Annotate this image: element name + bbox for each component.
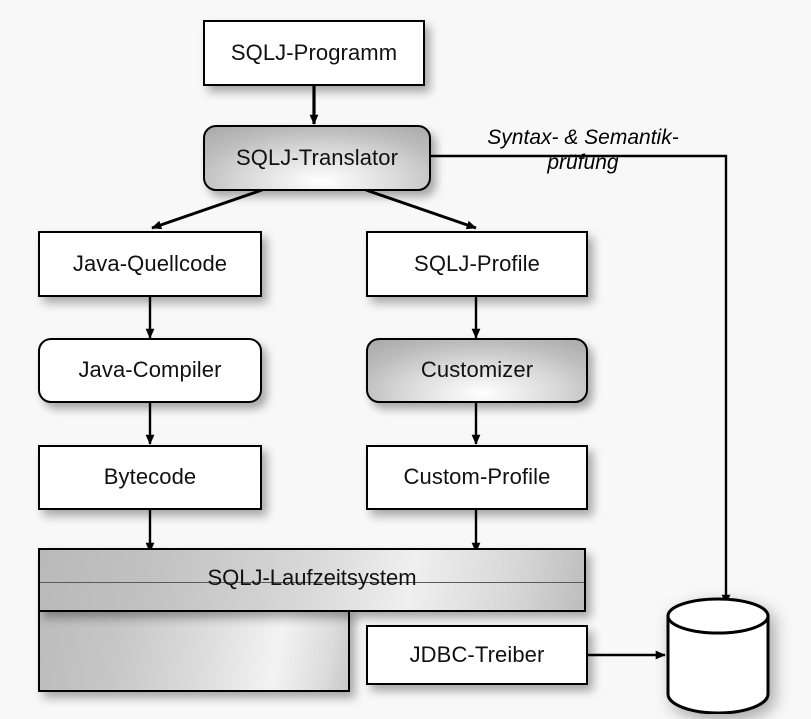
node-label: Custom-Profile (404, 465, 551, 489)
node-sqlj-laufzeitsystem-lower[interactable] (38, 608, 350, 692)
node-sqlj-profile[interactable]: SQLJ-Profile (366, 231, 588, 297)
node-customizer[interactable]: Customizer (366, 338, 588, 403)
node-sqlj-programm[interactable]: SQLJ-Programm (203, 20, 425, 86)
node-label: JDBC-Treiber (410, 643, 545, 667)
node-bytecode[interactable]: Bytecode (38, 445, 262, 510)
diagram-canvas: SQLJ-Programm SQLJ-Translator Syntax- & … (0, 0, 811, 719)
node-database[interactable] (663, 596, 773, 714)
node-label: Java-Compiler (78, 358, 221, 382)
node-label: SQLJ-Profile (414, 252, 540, 276)
database-cylinder-icon (663, 596, 773, 714)
node-label: SQLJ-Programm (231, 41, 397, 65)
node-custom-profile[interactable]: Custom-Profile (366, 445, 588, 510)
node-label-sqlj-laufzeitsystem: SQLJ-Laufzeitsystem (38, 565, 586, 591)
edge-translator-to-profile (366, 190, 476, 228)
node-java-compiler[interactable]: Java-Compiler (38, 338, 262, 403)
node-label: Customizer (421, 358, 533, 382)
node-jdbc-treiber[interactable]: JDBC-Treiber (366, 625, 588, 685)
annotation-syntax-semantik-pruefung: Syntax- & Semantik- prüfung (452, 126, 714, 176)
node-label: Bytecode (104, 465, 197, 489)
node-sqlj-translator[interactable]: SQLJ-Translator (203, 125, 431, 191)
node-label: Java-Quellcode (73, 252, 227, 276)
node-java-quellcode[interactable]: Java-Quellcode (38, 231, 262, 297)
node-label: SQLJ-Translator (236, 146, 398, 170)
edge-translator-to-quellcode (152, 190, 262, 228)
